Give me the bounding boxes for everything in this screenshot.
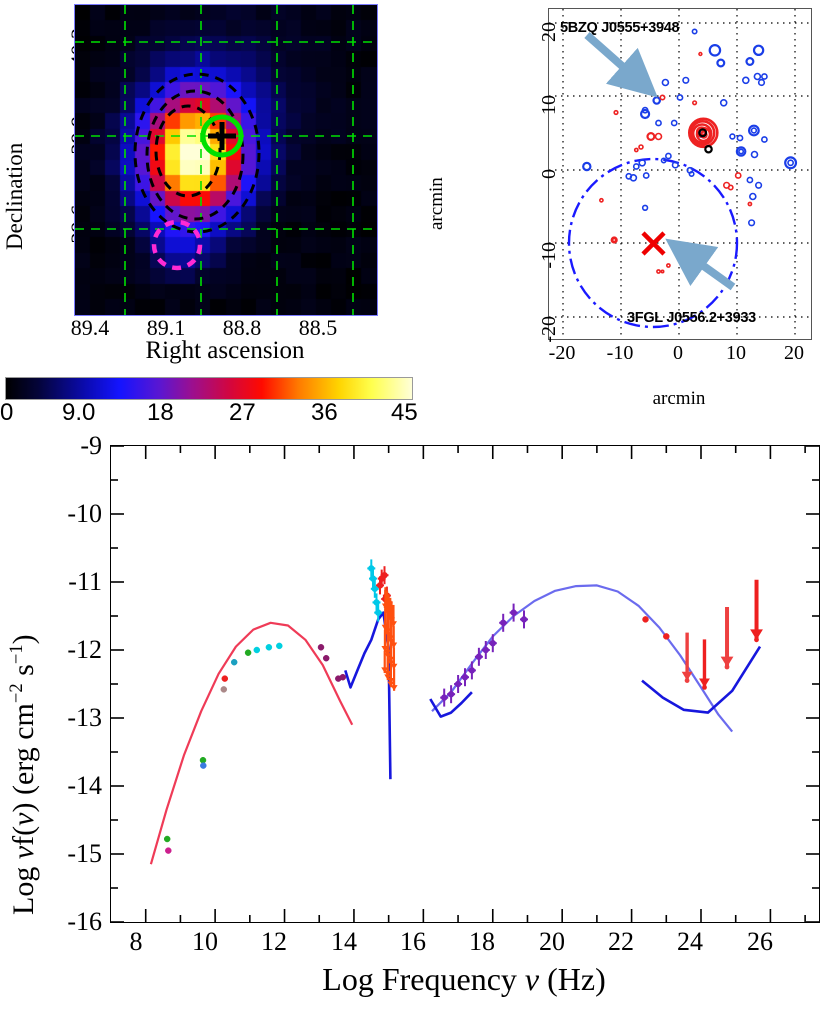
source-marker — [677, 95, 682, 100]
upper-limit-arrowhead — [391, 685, 398, 691]
panel-c-ytick-7: -16 — [42, 907, 102, 937]
source-marker — [747, 58, 754, 65]
sed-plot-svg — [111, 446, 819, 922]
sed-limit-point — [725, 665, 730, 670]
panel-c-xtick-4: 16 — [389, 927, 437, 957]
panel-a-ylabel: Declination — [2, 143, 28, 250]
cross-marker — [208, 122, 236, 150]
sed-point-radio-low-magenta — [165, 848, 171, 854]
field-grid — [549, 9, 811, 339]
panel-b-xtick-4: 20 — [764, 342, 824, 365]
source-marker — [583, 163, 590, 170]
source-marker — [666, 153, 671, 158]
panel-c-ytick-0: -9 — [52, 431, 102, 461]
sed-point-ir-purple-1 — [318, 644, 324, 650]
source-marker — [699, 53, 702, 56]
field-map-svg — [549, 9, 811, 339]
source-marker — [752, 152, 758, 158]
panel-c-ytick-4: -13 — [42, 703, 102, 733]
sed-point-ir-purple-4 — [340, 674, 346, 680]
source-marker — [667, 264, 670, 267]
source-marker — [747, 177, 752, 182]
counts-map-overlay — [75, 5, 377, 315]
panel-b-xtick-0: -20 — [532, 342, 592, 365]
source-marker — [721, 100, 727, 106]
coordinate-grid-lines — [75, 5, 377, 315]
source-marker — [710, 45, 720, 55]
panel-c-xtick-2: 12 — [250, 927, 298, 957]
source-marker — [661, 270, 663, 272]
annotation-arrow-gamma — [677, 247, 733, 287]
source-marker — [662, 80, 668, 86]
panel-c-xtick-5: 18 — [458, 927, 506, 957]
panel-c-ytick-3: -12 — [42, 635, 102, 665]
source-marker — [639, 145, 643, 149]
source-marker — [737, 135, 742, 140]
panel-b-xlabel: arcmin — [548, 388, 810, 410]
source-marker — [648, 133, 655, 140]
sed-curve-observed-spectrum-blue-optical — [345, 613, 390, 780]
source-marker — [756, 183, 762, 189]
source-marker — [693, 101, 697, 105]
panel-c-xtick-3: 14 — [320, 927, 368, 957]
sed-point-radio-green-1 — [200, 757, 206, 763]
source-marker — [644, 173, 649, 178]
source-marker — [656, 134, 662, 140]
source-marker — [660, 95, 664, 99]
panel-c-ytick-1: -10 — [42, 499, 102, 529]
source-marker — [748, 202, 751, 205]
sed-point-radio-red — [222, 676, 228, 682]
source-marker — [656, 120, 661, 125]
sed-point-radio-blue-1 — [200, 763, 206, 769]
panel-counts-map: Declination 40.2 39.9 39.6 — [0, 0, 420, 370]
panel-b-ytick-3: -10 — [538, 242, 561, 288]
source-marker — [657, 270, 660, 273]
panel-c-xtick-6: 20 — [528, 927, 576, 957]
panel-c-ytick-5: -14 — [42, 771, 102, 801]
panel-sed: Log νf(ν) (erg cm−2 s−1) -9 -10 -11 -12 … — [0, 415, 830, 1009]
source-marker — [754, 74, 760, 80]
panel-b-xtick-3: 10 — [706, 342, 766, 365]
source-marker — [634, 164, 639, 169]
radio-source-markers — [583, 29, 796, 273]
source-marker — [749, 126, 759, 136]
source-marker — [600, 199, 603, 202]
panel-b-xtick-1: -10 — [590, 342, 650, 365]
source-marker — [739, 149, 743, 153]
source-marker — [689, 172, 693, 176]
sed-point-radio-cyan-2 — [266, 644, 272, 650]
sed-point-gamma-red-detections — [663, 633, 669, 639]
source-marker — [762, 137, 767, 142]
panel-c-xtick-9: 26 — [736, 927, 784, 957]
panel-c-ylabel: Log νf(ν) (erg cm−2 s−1) — [6, 634, 41, 915]
source-marker — [729, 185, 733, 189]
source-marker — [785, 157, 796, 168]
source-marker — [613, 238, 616, 241]
source-marker — [635, 148, 638, 151]
panel-b-ytick-1: 10 — [538, 95, 561, 135]
panel-c-xtick-0: 8 — [112, 927, 160, 957]
panel-b-ylabel: arcmin — [426, 177, 448, 230]
source-marker — [672, 120, 677, 125]
panel-b-ytick-0: 20 — [538, 22, 561, 62]
annotation-label-blazar: 5BZQ J0555+3948 — [560, 20, 679, 36]
sed-curve-synchrotron-model — [151, 623, 352, 864]
sed-point-radio-cyan-1 — [254, 647, 260, 653]
source-marker — [683, 78, 689, 84]
sed-point-radio-teal-1 — [231, 659, 237, 665]
panel-c-xlabel: Log Frequency ν (Hz) — [110, 961, 818, 998]
source-marker — [749, 220, 755, 226]
annotation-label-gamma: 3FGL J0556.2+3933 — [627, 310, 756, 326]
source-marker — [736, 173, 741, 178]
source-marker — [717, 60, 724, 67]
source-marker — [730, 134, 735, 139]
sed-point-radio-grey — [221, 686, 227, 692]
sed-plot-frame — [110, 445, 820, 923]
significance-contours — [135, 74, 259, 232]
sed-point-radio-low-green — [164, 836, 170, 842]
field-map-frame — [548, 8, 812, 340]
source-marker — [626, 174, 631, 179]
panel-b-xtick-2: 0 — [648, 342, 708, 365]
sed-limit-point — [702, 685, 707, 690]
panel-b-ytick-2: 0 — [538, 169, 561, 209]
sed-limit-point — [685, 678, 690, 683]
sed-point-ir-purple-2 — [323, 655, 329, 661]
source-marker — [759, 80, 765, 86]
source-marker — [614, 111, 618, 115]
colorbar — [5, 377, 413, 400]
annotation-arrow-blazar — [587, 35, 647, 88]
source-marker — [743, 77, 749, 83]
source-marker — [750, 194, 756, 200]
panel-c-ytick-6: -15 — [42, 839, 102, 869]
source-marker — [643, 205, 648, 210]
panel-c-xtick-7: 22 — [597, 927, 645, 957]
source-marker — [705, 146, 711, 152]
source-marker — [788, 160, 793, 165]
source-marker — [752, 128, 757, 133]
panel-c-xtick-8: 24 — [666, 927, 714, 957]
panel-field-map: 5BZQ J0555+3948 3FGL J0556.2+3933 20 10 … — [420, 0, 830, 400]
sed-point-gamma-red-detections — [643, 616, 649, 622]
source-marker — [692, 29, 696, 33]
sed-limit-point — [754, 637, 759, 642]
sed-point-radio-cyan-3 — [276, 643, 282, 649]
panel-a-xlabel: Right ascension — [74, 337, 376, 365]
counts-map-image — [74, 4, 378, 316]
source-marker — [654, 97, 660, 103]
panel-c-ytick-2: -11 — [42, 567, 102, 597]
sed-point-radio-green-2 — [245, 650, 251, 656]
source-marker — [762, 74, 767, 79]
source-marker — [754, 46, 763, 55]
panel-c-xtick-1: 10 — [181, 927, 229, 957]
